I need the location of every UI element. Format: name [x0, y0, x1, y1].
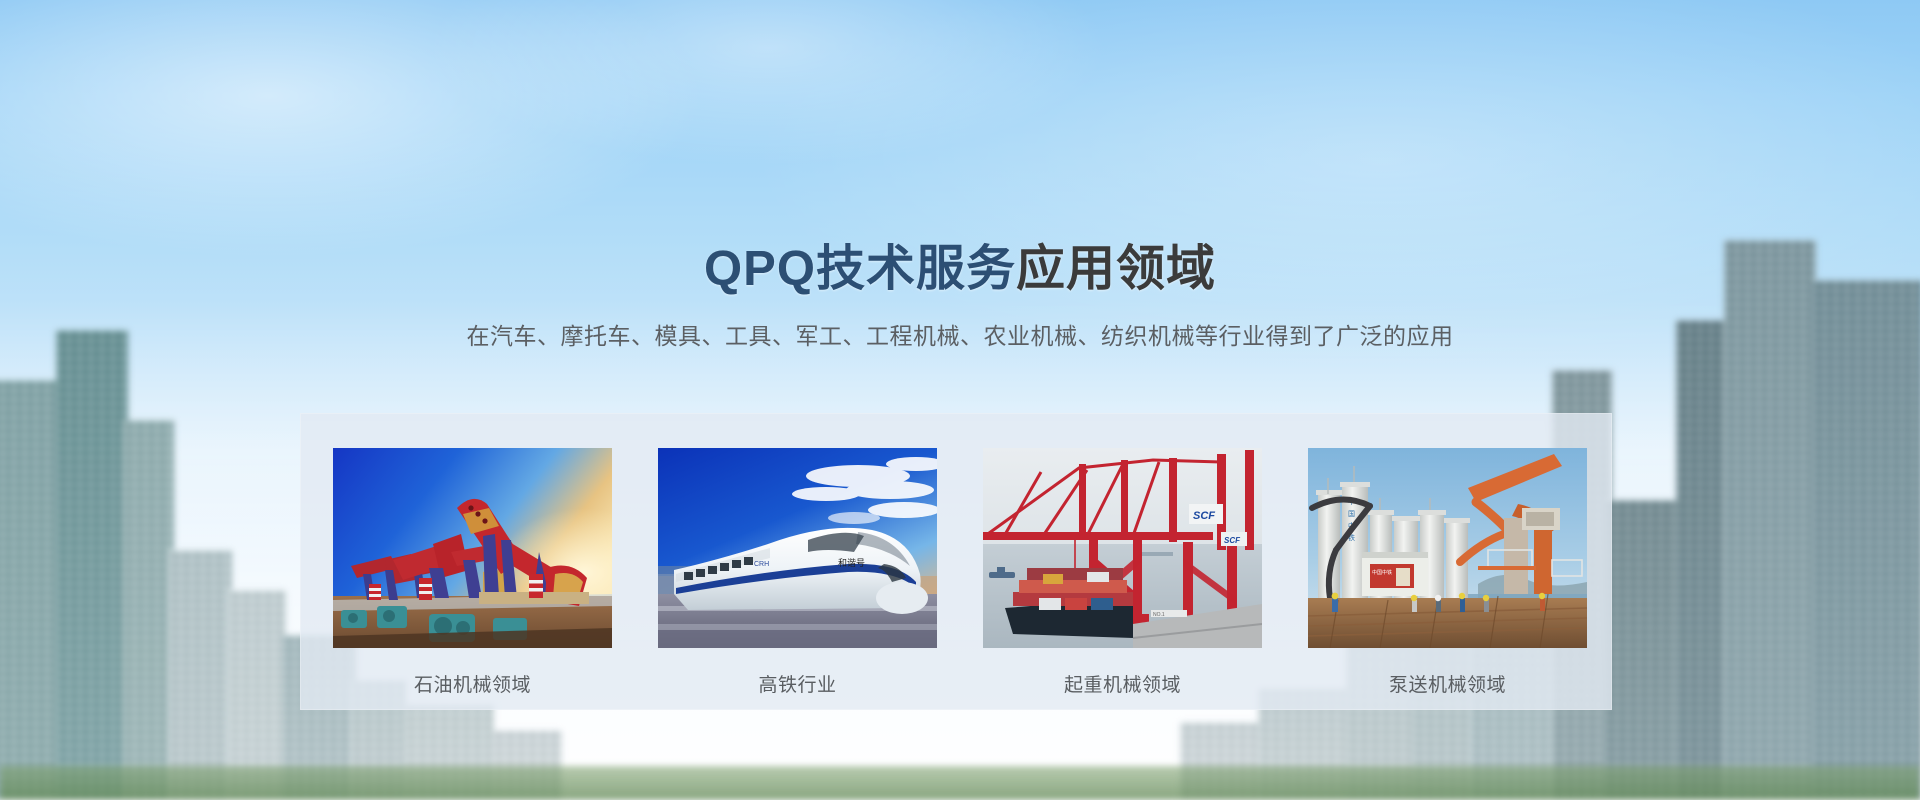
building-right-5	[1604, 500, 1682, 800]
svg-text:中国中铁: 中国中铁	[1372, 569, 1392, 576]
page-title: QPQ技术服务应用领域	[0, 243, 1920, 297]
port-container-crane-photo[interactable]: SCF SCF	[983, 448, 1262, 648]
svg-text:NO.1: NO.1	[1153, 612, 1165, 618]
oil-pumpjack-photo[interactable]	[333, 448, 612, 648]
card-label: 泵送机械领域	[1308, 670, 1587, 697]
concrete-pump-photo[interactable]: 中国 中铁	[1308, 448, 1587, 648]
high-speed-train-photo[interactable]: 和谐号 CRH	[658, 448, 937, 648]
application-card[interactable]: 和谐号 CRH 高铁行业	[658, 448, 937, 697]
page-subtitle: 在汽车、摩托车、模具、工具、军工、工程机械、农业机械、纺织机械等行业得到了广泛的…	[0, 317, 1920, 351]
building-left-4	[168, 550, 232, 800]
card-label: 石油机械领域	[333, 670, 612, 697]
svg-text:和谐号: 和谐号	[838, 558, 865, 568]
page-title-dark: 应用领域	[1016, 242, 1216, 296]
building-left-3	[122, 420, 174, 800]
page-title-accent: QPQ技术服务	[704, 242, 1016, 296]
svg-text:SCF: SCF	[1224, 536, 1241, 545]
svg-text:国: 国	[1348, 510, 1355, 518]
header: QPQ技术服务应用领域 在汽车、摩托车、模具、工具、军工、工程机械、农业机械、纺…	[0, 0, 1920, 351]
svg-text:CRH: CRH	[754, 561, 769, 568]
application-card[interactable]: SCF SCF	[983, 448, 1262, 697]
svg-text:SCF: SCF	[1193, 510, 1215, 522]
application-card[interactable]: 石油机械领域	[333, 448, 612, 697]
application-card-list: 石油机械领域	[333, 448, 1587, 697]
card-label: 高铁行业	[658, 670, 937, 697]
card-label: 起重机械领域	[983, 670, 1262, 697]
foliage-strip	[0, 766, 1920, 800]
application-card[interactable]: 中国 中铁	[1308, 448, 1587, 697]
building-left-2	[56, 330, 128, 800]
applications-panel: 石油机械领域	[300, 413, 1612, 710]
building-right-8	[1812, 280, 1920, 800]
